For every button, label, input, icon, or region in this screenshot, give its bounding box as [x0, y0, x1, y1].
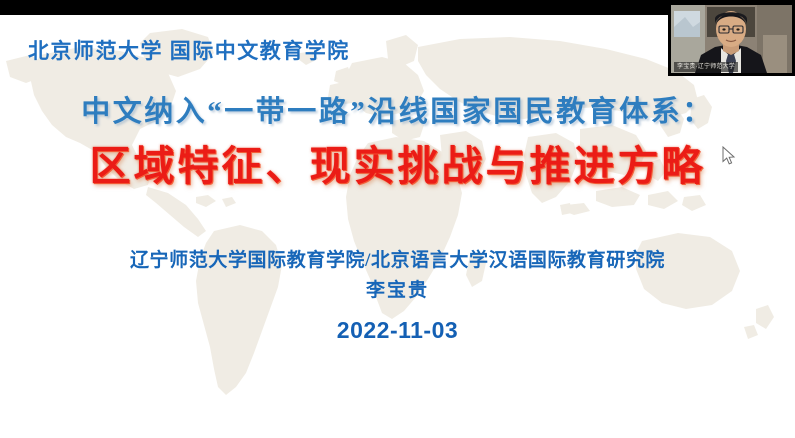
title-line-primary: 中文纳入“一带一路”沿线国家国民教育体系：: [0, 93, 795, 132]
presentation-screen: 北京师范大学 国际中文教育学院 中文纳入“一带一路”沿线国家国民教育体系： 区域…: [0, 0, 795, 438]
organization-header: 北京师范大学 国际中文教育学院: [28, 35, 350, 65]
slide-title-block: 中文纳入“一带一路”沿线国家国民教育体系： 区域特征、现实挑战与推进方略: [0, 93, 795, 198]
affiliation-text: 辽宁师范大学国际教育学院/北京语言大学汉语国际教育研究院: [0, 247, 795, 276]
speaker-name-tag: 李宝贵·辽宁师范大学: [674, 62, 738, 72]
world-map-background: [0, 25, 795, 438]
presentation-date: 2022-11-03: [0, 317, 795, 344]
author-block: 辽宁师范大学国际教育学院/北京语言大学汉语国际教育研究院 李宝贵: [0, 247, 795, 305]
slide-canvas: 北京师范大学 国际中文教育学院 中文纳入“一带一路”沿线国家国民教育体系： 区域…: [0, 15, 795, 438]
speaker-video-panel[interactable]: 李宝贵·辽宁师范大学: [668, 0, 795, 76]
title-line-subtitle: 区域特征、现实挑战与推进方略: [0, 136, 795, 198]
author-name: 李宝贵: [0, 277, 795, 306]
